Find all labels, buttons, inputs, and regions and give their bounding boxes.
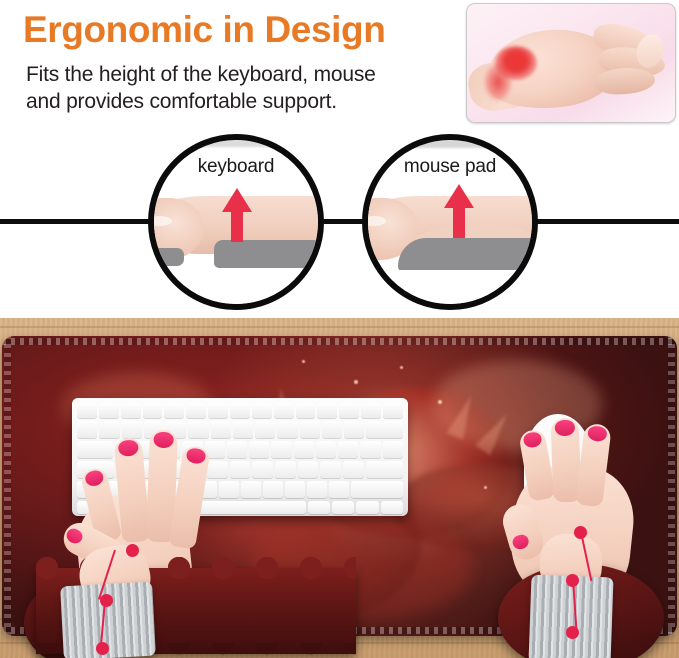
- wrist-rest-block: [214, 240, 322, 268]
- arrow-head: [222, 188, 252, 212]
- circle-bottom-mask: [368, 270, 532, 304]
- page-subtitle: Fits the height of the keyboard, mouse a…: [26, 62, 456, 115]
- page-title: Ergonomic in Design: [23, 10, 385, 51]
- up-arrow-icon: [222, 188, 252, 242]
- measurement-pin: [566, 626, 579, 639]
- measurement-pin: [574, 526, 587, 539]
- fingernail: [185, 447, 206, 465]
- ember-particle: [302, 360, 305, 363]
- circle-bottom-mask: [154, 270, 318, 304]
- fingernail: [587, 425, 608, 442]
- knuckle-highlight: [362, 216, 386, 226]
- callout-label-keyboard: keyboard: [154, 156, 318, 178]
- callout-label-mouse-pad: mouse pad: [368, 156, 532, 178]
- section-divider: [0, 219, 679, 224]
- watermark: [625, 622, 671, 652]
- mat-stitched-edge: [2, 338, 677, 345]
- wrist-rest-secondary: [148, 248, 184, 266]
- callout-circle-mouse-pad: mouse pad: [362, 134, 538, 310]
- subtitle-line-2: and provides comfortable support.: [26, 89, 456, 116]
- wrist-rest-shadow: [368, 140, 528, 148]
- fingernail: [153, 432, 174, 449]
- desk-plank-seam: [0, 326, 679, 328]
- wrist-rest-shadow: [154, 140, 272, 147]
- fingernail: [511, 533, 530, 551]
- arrow-head: [444, 184, 474, 208]
- callout-circle-keyboard: keyboard: [148, 134, 324, 310]
- subtitle-line-1: Fits the height of the keyboard, mouse: [26, 62, 456, 89]
- wrist-rest-block: [398, 238, 538, 272]
- measurement-pin: [566, 574, 579, 587]
- arrow-shaft: [453, 206, 465, 238]
- fingernail: [118, 439, 139, 457]
- ember-particle: [400, 366, 403, 369]
- measurement-pin: [96, 642, 109, 655]
- knuckle-highlight: [148, 216, 172, 226]
- ember-particle: [438, 400, 442, 404]
- fingernail: [522, 431, 542, 449]
- product-marketing-image: Ergonomic in Design Fits the height of t…: [0, 0, 679, 658]
- right-sweater-sleeve: [528, 575, 613, 658]
- mat-stitched-edge: [668, 336, 675, 636]
- arrow-shaft: [231, 210, 243, 242]
- fingernail: [64, 526, 85, 546]
- up-arrow-icon: [444, 184, 474, 238]
- mat-stitched-edge: [4, 336, 11, 636]
- measurement-pin: [126, 544, 139, 557]
- product-photo: [0, 318, 679, 658]
- keyboard-row: [77, 403, 403, 418]
- pain-spot-marker: [495, 46, 537, 80]
- fingernail: [555, 420, 576, 437]
- ember-particle: [484, 486, 487, 489]
- fingernail: [84, 469, 105, 488]
- keyboard-row: [77, 421, 403, 438]
- measurement-pin: [100, 594, 113, 607]
- wrist-pain-photo: [466, 3, 676, 123]
- ember-particle: [354, 380, 358, 384]
